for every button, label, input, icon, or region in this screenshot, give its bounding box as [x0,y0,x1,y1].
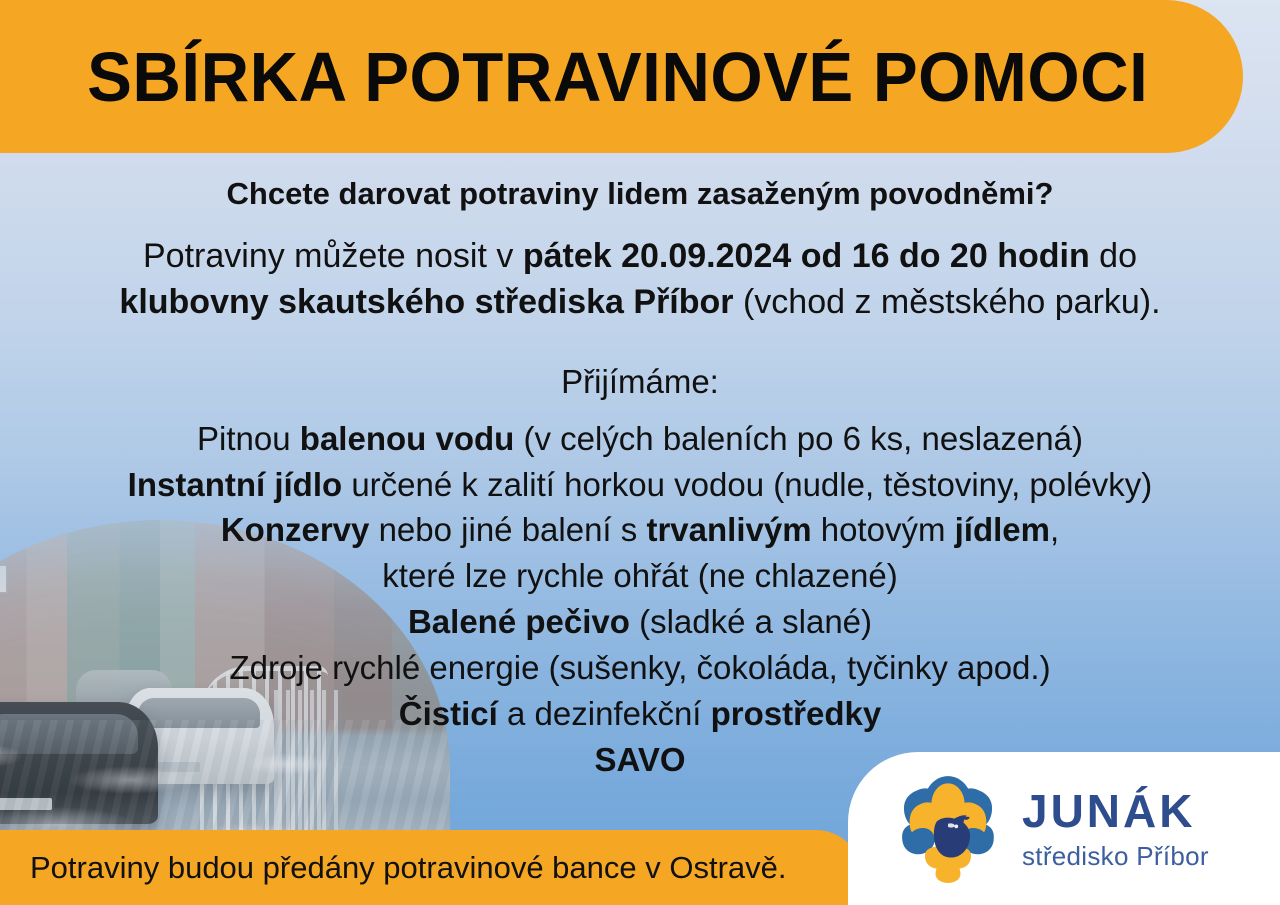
accept-heading: Přijímáme: [0,361,1280,404]
logo-wordmark: JUNÁK středisko Příbor [1022,788,1209,869]
item-bold: Čisticí [399,695,498,732]
when-post: do [1090,237,1137,275]
item-post: (v celých baleních po 6 ks, neslazená) [514,420,1083,457]
item-pre: Pitnou [197,420,300,457]
list-item: Instantní jídlo určené k zalití horkou v… [0,464,1280,507]
item-bold-2: prostředky [711,695,882,732]
when-where-block: Potraviny můžete nosit v pátek 20.09.202… [0,234,1280,324]
list-item: Zdroje rychlé energie (sušenky, čokoláda… [0,647,1280,690]
headline-question: Chcete darovat potraviny lidem zasaženým… [0,174,1280,214]
item-post: (sladké a slané) [630,603,872,640]
when-line: Potraviny můžete nosit v pátek 20.09.202… [0,234,1280,279]
list-item: Pitnou balenou vodu (v celých baleních p… [0,418,1280,461]
page-title: SBÍRKA POTRAVINOVÉ POMOCI [87,37,1148,117]
where-line: klubovny skautského střediska Příbor (vc… [0,280,1280,325]
item-bold: Instantní jídlo [128,466,342,503]
list-item: Čisticí a dezinfekční prostředky [0,693,1280,736]
item-mid-2: hotovým [812,511,955,548]
when-pre: Potraviny můžete nosit v [143,237,523,275]
where-bold: klubovny skautského střediska Příbor [119,283,733,321]
item-post: určené k zalití horkou vodou (nudle, těs… [342,466,1152,503]
list-item: Balené pečivo (sladké a slané) [0,601,1280,644]
item-bold: Balené pečivo [408,603,630,640]
list-item: které lze rychle ohřát (ne chlazené) [0,555,1280,598]
item-bold-3: jídlem [955,511,1050,548]
poster-body: Chcete darovat potraviny lidem zasaženým… [0,158,1280,782]
item-mid: a dezinfekční [498,695,711,732]
logo-panel: JUNÁK středisko Příbor [848,752,1280,905]
junak-lily-emblem-icon [896,774,1000,884]
footer-banner: Potraviny budou předány potravinové banc… [0,830,862,905]
item-bold-2: trvanlivým [646,511,811,548]
where-post: (vchod z městského parku). [734,283,1161,321]
title-banner: SBÍRKA POTRAVINOVÉ POMOCI [0,0,1243,153]
footer-text: Potraviny budou předány potravinové banc… [30,850,787,886]
when-bold: pátek 20.09.2024 od 16 do 20 hodin [523,237,1090,275]
poster-canvas: SBÍRKA POTRAVINOVÉ POMOCI Chcete darovat… [0,0,1280,905]
accepted-items-list: Pitnou balenou vodu (v celých baleních p… [0,418,1280,782]
item-bold: balenou vodu [300,420,515,457]
item-post: , [1050,511,1059,548]
list-item: Konzervy nebo jiné balení s trvanlivým h… [0,509,1280,552]
logo-subtitle: středisko Příbor [1022,843,1209,869]
logo-name: JUNÁK [1022,788,1209,834]
item-mid: nebo jiné balení s [369,511,646,548]
item-bold: Konzervy [221,511,370,548]
